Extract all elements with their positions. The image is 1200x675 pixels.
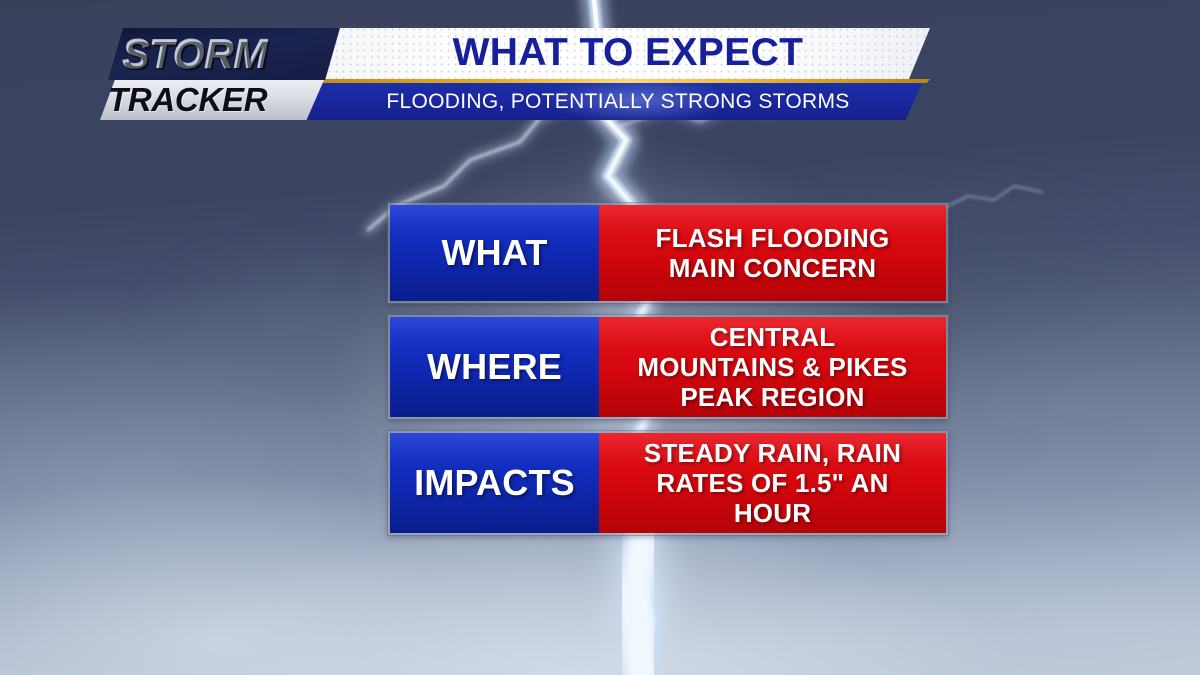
- row-value-line: HOUR: [644, 498, 901, 528]
- row-value-line: STEADY RAIN, RAIN: [644, 438, 901, 468]
- row-value-what: FLASH FLOODING MAIN CONCERN: [599, 205, 946, 301]
- row-label-where: WHERE: [390, 317, 599, 417]
- storm-tracker-logo: STORM TRACKER: [100, 28, 340, 120]
- logo-word-storm: STORM: [122, 28, 342, 80]
- row-value-line: MOUNTAINS & PIKES: [637, 352, 907, 382]
- page-subtitle: FLOODING, POTENTIALLY STRONG STORMS: [338, 84, 898, 119]
- table-row: IMPACTS STEADY RAIN, RAIN RATES OF 1.5" …: [388, 431, 948, 535]
- weather-graphic: WHAT TO EXPECT FLOODING, POTENTIALLY STR…: [0, 0, 1200, 675]
- row-value-line: MAIN CONCERN: [656, 253, 890, 283]
- logo-word-tracker: TRACKER: [108, 80, 328, 120]
- row-value-line: PEAK REGION: [637, 382, 907, 412]
- row-value-where: CENTRAL MOUNTAINS & PIKES PEAK REGION: [599, 317, 946, 417]
- table-row: WHAT FLASH FLOODING MAIN CONCERN: [388, 203, 948, 303]
- row-label-what: WHAT: [390, 205, 599, 301]
- row-value-line: FLASH FLOODING: [656, 223, 890, 253]
- table-row: WHERE CENTRAL MOUNTAINS & PIKES PEAK REG…: [388, 315, 948, 419]
- row-label-impacts: IMPACTS: [390, 433, 599, 533]
- page-title: WHAT TO EXPECT: [348, 26, 908, 80]
- row-value-impacts: STEADY RAIN, RAIN RATES OF 1.5" AN HOUR: [599, 433, 946, 533]
- row-value-line: CENTRAL: [637, 322, 907, 352]
- what-to-expect-table: WHAT FLASH FLOODING MAIN CONCERN WHERE C…: [388, 203, 948, 535]
- row-value-line: RATES OF 1.5" AN: [644, 468, 901, 498]
